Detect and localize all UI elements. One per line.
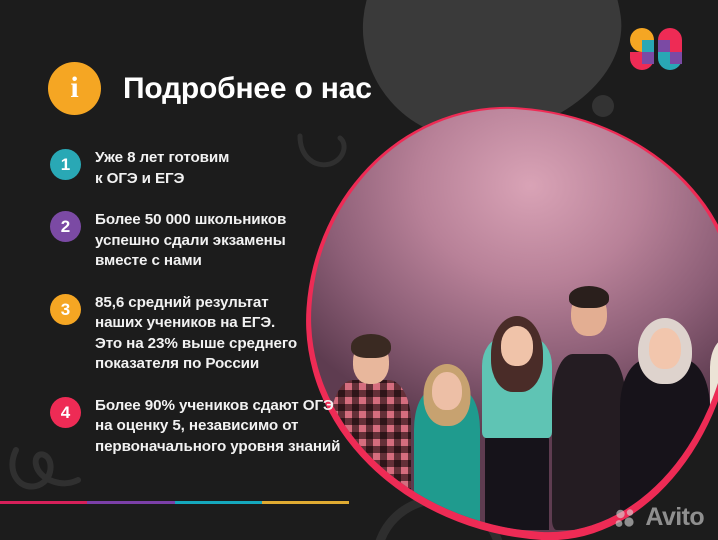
list-item-text: Более 50 000 школьников успешно сдали эк…	[95, 210, 286, 272]
list-item-number-badge: 2	[50, 211, 81, 242]
brand-logo-icon	[630, 26, 682, 70]
slide-root: i Подробнее о нас 1 Уже 8 лет готовим к …	[0, 0, 718, 540]
accent-colorbar	[0, 501, 349, 504]
list-item-number-badge: 4	[50, 397, 81, 428]
background-blob-shape	[347, 0, 635, 153]
info-icon-glyph: i	[70, 73, 78, 103]
colorbar-segment-4	[262, 501, 349, 504]
list-item-text: Более 90% учеников сдают ОГЭ на оценку 5…	[95, 396, 340, 458]
person-3	[477, 278, 557, 530]
info-icon: i	[48, 62, 101, 115]
list-item-text: 85,6 средний результат наших учеников на…	[95, 293, 297, 375]
avito-wordmark: Avito	[645, 505, 704, 530]
colorbar-segment-1	[0, 501, 87, 504]
person-6	[707, 286, 718, 530]
person-2	[411, 314, 483, 530]
colorbar-segment-3	[175, 501, 262, 504]
avito-logo-icon	[615, 508, 639, 528]
background-ring-shape	[372, 495, 506, 540]
photo-people-group	[311, 110, 718, 530]
list-item-text: Уже 8 лет готовим к ОГЭ и ЕГЭ	[95, 148, 229, 189]
list-item-number-badge: 3	[50, 294, 81, 325]
colorbar-segment-2	[87, 501, 174, 504]
list-item-number-badge: 1	[50, 149, 81, 180]
person-4	[549, 262, 629, 530]
list-item: 4 Более 90% учеников сдают ОГЭ на оценку…	[50, 396, 360, 458]
list-item: 3 85,6 средний результат наших учеников …	[50, 293, 360, 375]
list-item: 2 Более 50 000 школьников успешно сдали …	[50, 210, 360, 272]
avito-watermark: Avito	[615, 505, 704, 530]
page-title-row: i Подробнее о нас	[48, 62, 372, 115]
person-5	[617, 280, 713, 530]
photo-blob-clip	[297, 96, 718, 540]
team-photo	[306, 108, 718, 538]
page-title: Подробнее о нас	[123, 72, 372, 106]
feature-list: 1 Уже 8 лет готовим к ОГЭ и ЕГЭ 2 Более …	[50, 148, 360, 478]
list-item: 1 Уже 8 лет готовим к ОГЭ и ЕГЭ	[50, 148, 360, 189]
background-dot-shape	[592, 95, 614, 117]
